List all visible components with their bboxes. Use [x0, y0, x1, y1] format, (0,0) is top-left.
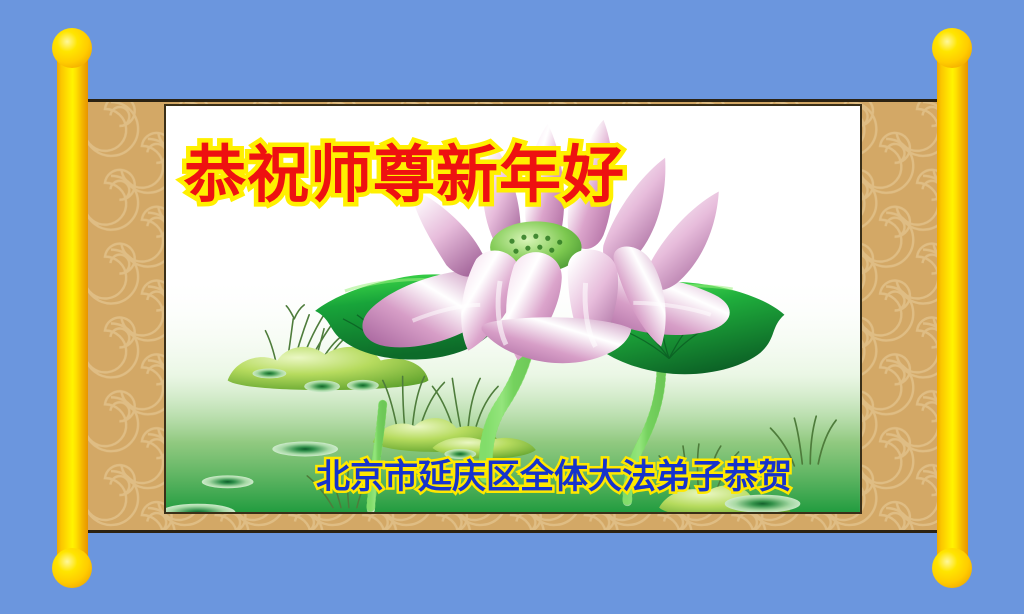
scroll-knob-bottom-right: [932, 548, 972, 588]
scroll-rod-left: [57, 44, 88, 572]
card-canvas: 恭祝师尊新年好 北京市延庆区全体大法弟子恭贺: [164, 104, 862, 514]
scroll-knob-top-right: [932, 28, 972, 68]
greeting-card-image: 恭祝师尊新年好 北京市延庆区全体大法弟子恭贺: [0, 0, 1024, 614]
scroll-knob-top-left: [52, 28, 92, 68]
card-title: 恭祝师尊新年好: [184, 144, 625, 206]
card-signature: 北京市延庆区全体大法弟子恭贺: [316, 460, 792, 494]
scroll-rod-right: [937, 44, 968, 572]
scroll-knob-bottom-left: [52, 548, 92, 588]
